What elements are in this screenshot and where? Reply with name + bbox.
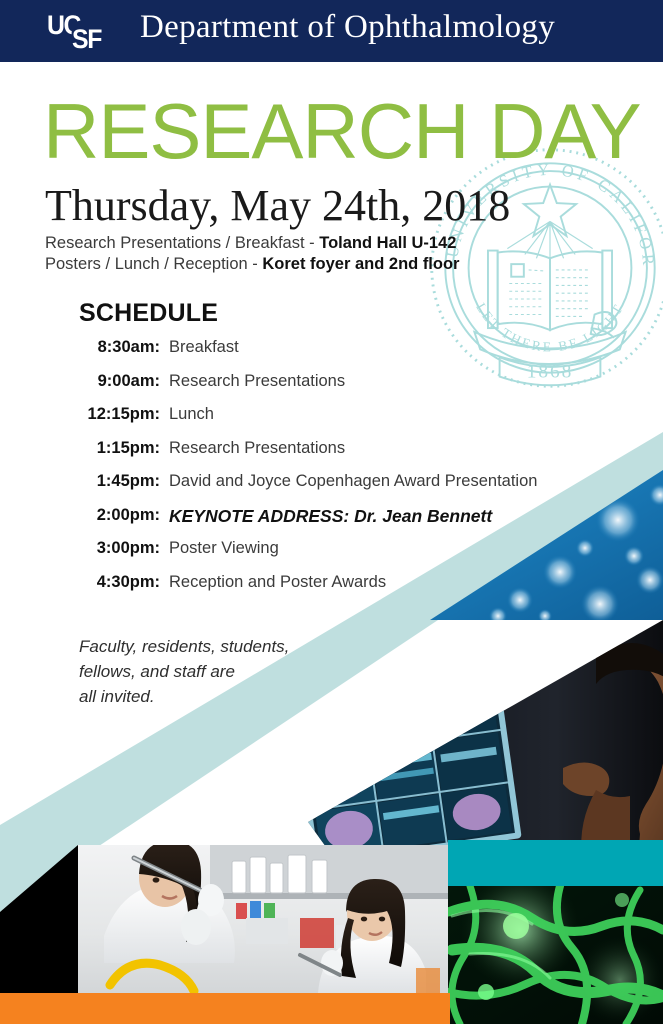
- schedule-description: Reception and Poster Awards: [169, 573, 386, 592]
- schedule-description: KEYNOTE ADDRESS: Dr. Jean Bennett: [169, 506, 492, 527]
- schedule-heading: SCHEDULE: [79, 299, 218, 328]
- orange-color-bar: [0, 993, 450, 1024]
- schedule-row: 4:30pm: Reception and Poster Awards: [0, 573, 600, 607]
- schedule-time: 8:30am:: [0, 338, 160, 357]
- schedule-time: 2:00pm:: [0, 506, 160, 525]
- seal-star: [507, 185, 592, 261]
- schedule-description: David and Joyce Copenhagen Award Present…: [169, 472, 537, 491]
- teal-color-block: [448, 840, 663, 886]
- schedule-description: Breakfast: [169, 338, 239, 357]
- schedule-row: 12:15pm: Lunch: [0, 405, 600, 439]
- schedule-time: 3:00pm:: [0, 539, 160, 558]
- schedule-row: 8:30am: Breakfast: [0, 338, 600, 372]
- page-title: RESEARCH DAY: [43, 92, 641, 170]
- schedule-list: 8:30am: Breakfast 9:00am: Research Prese…: [0, 338, 600, 606]
- seal-open-book: [488, 251, 616, 338]
- schedule-row-keynote: 2:00pm: KEYNOTE ADDRESS: Dr. Jean Bennet…: [0, 506, 600, 540]
- venue-line: Posters / Lunch / Reception - Koret foye…: [45, 254, 459, 275]
- invitation-line: all invited.: [79, 684, 289, 709]
- clinician-reviewing-retinal-scans-photo: [290, 615, 663, 895]
- department-title: Department of Ophthalmology: [140, 9, 555, 46]
- schedule-time: 12:15pm:: [0, 405, 160, 424]
- schedule-description: Lunch: [169, 405, 214, 424]
- venue-info: Research Presentations / Breakfast - Tol…: [45, 233, 459, 275]
- schedule-time: 1:15pm:: [0, 439, 160, 458]
- schedule-description: Research Presentations: [169, 439, 345, 458]
- schedule-time: 4:30pm:: [0, 573, 160, 592]
- venue-prefix: Research Presentations / Breakfast -: [45, 234, 319, 252]
- event-date: Thursday, May 24th, 2018: [45, 184, 510, 228]
- schedule-time: 9:00am:: [0, 372, 160, 391]
- venue-prefix: Posters / Lunch / Reception -: [45, 255, 262, 273]
- schedule-row: 3:00pm: Poster Viewing: [0, 539, 600, 573]
- venue-location: Koret foyer and 2nd floor: [262, 255, 459, 273]
- invitation-text: Faculty, residents, students, fellows, a…: [79, 634, 289, 709]
- invitation-line: fellows, and staff are: [79, 659, 289, 684]
- venue-line: Research Presentations / Breakfast - Tol…: [45, 233, 459, 254]
- ucsf-logo-sf: SF: [72, 26, 101, 53]
- ucsf-logo: UC SF: [47, 14, 139, 54]
- schedule-description: Research Presentations: [169, 372, 345, 391]
- page-header: UC SF Department of Ophthalmology: [0, 0, 663, 62]
- schedule-row: 9:00am: Research Presentations: [0, 372, 600, 406]
- venue-location: Toland Hall U-142: [319, 234, 456, 252]
- schedule-time: 1:45pm:: [0, 472, 160, 491]
- green-fluorescent-neurons-photo: [448, 870, 663, 1024]
- lab-researchers-pipetting-photo: [78, 841, 450, 993]
- schedule-row: 1:15pm: Research Presentations: [0, 439, 600, 473]
- schedule-description: Poster Viewing: [169, 539, 279, 558]
- research-day-poster: THE UNIVERSITY OF CALIFORNIA: [0, 0, 663, 1024]
- schedule-row: 1:45pm: David and Joyce Copenhagen Award…: [0, 472, 600, 506]
- invitation-line: Faculty, residents, students,: [79, 634, 289, 659]
